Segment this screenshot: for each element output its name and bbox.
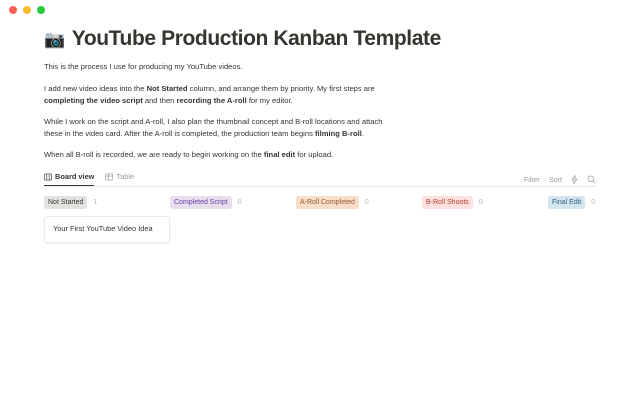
status-badge: Final Edit: [548, 196, 585, 209]
tab-table[interactable]: Table: [105, 169, 134, 186]
kanban-column-completed-script: Completed Script0: [170, 196, 296, 242]
page-title-text: YouTube Production Kanban Template: [72, 26, 441, 52]
paragraph-p4: When all B-roll is recorded, we are read…: [44, 149, 394, 161]
page-title: 📷 YouTube Production Kanban Template: [44, 26, 596, 52]
text-run: filming B-roll: [315, 129, 362, 138]
kanban-column-final-edit: Final Edit0: [548, 196, 640, 242]
column-cards: [296, 216, 422, 242]
window-titlebar: [0, 0, 640, 20]
card-title: Your First YouTube Video Idea: [53, 224, 153, 234]
column-header[interactable]: Completed Script0: [170, 196, 296, 209]
table-icon: [105, 173, 113, 181]
text-run: for my editor.: [247, 96, 293, 105]
column-count: 0: [238, 197, 242, 208]
column-header[interactable]: Final Edit0: [548, 196, 640, 209]
column-header[interactable]: A-Roll Completed0: [296, 196, 422, 209]
sort-button[interactable]: Sort: [549, 175, 562, 184]
window-close-button[interactable]: [9, 6, 17, 14]
paragraph-p2: I add new video ideas into the Not Start…: [44, 83, 394, 107]
text-run: When all B-roll is recorded, we are read…: [44, 150, 264, 159]
page-content: 📷 YouTube Production Kanban Template Thi…: [0, 20, 640, 243]
column-cards: [422, 216, 548, 242]
column-header[interactable]: B-Roll Shoots0: [422, 196, 548, 209]
kanban-column-a-roll-completed: A-Roll Completed0: [296, 196, 422, 242]
text-run: for upload.: [295, 150, 333, 159]
page-description: This is the process I use for producing …: [44, 61, 596, 161]
tab-label: Board view: [55, 169, 94, 185]
filter-button[interactable]: Filter: [524, 175, 540, 184]
column-cards: Your First YouTube Video Idea: [44, 216, 170, 243]
status-badge: Not Started: [44, 196, 87, 209]
kanban-board: Not Started1Your First YouTube Video Ide…: [44, 196, 596, 243]
column-count: 1: [93, 197, 97, 208]
window-maximize-button[interactable]: [37, 6, 45, 14]
column-cards: [170, 216, 296, 242]
text-run: .: [362, 129, 364, 138]
search-icon[interactable]: [587, 175, 596, 184]
column-count: 0: [591, 197, 595, 208]
view-bar: Board viewTable Filter Sort: [44, 170, 596, 187]
kanban-column-b-roll-shoots: B-Roll Shoots0: [422, 196, 548, 242]
text-run: recording the A-roll: [177, 96, 247, 105]
tab-label: Table: [116, 169, 134, 185]
column-header[interactable]: Not Started1: [44, 196, 170, 209]
view-tabs: Board viewTable: [44, 170, 134, 186]
text-run: completing the video script: [44, 96, 143, 105]
kanban-column-not-started: Not Started1Your First YouTube Video Ide…: [44, 196, 170, 243]
text-run: I add new video ideas into the: [44, 84, 147, 93]
text-run: This is the process I use for producing …: [44, 62, 243, 71]
text-run: and then: [143, 96, 177, 105]
view-tools: Filter Sort: [524, 175, 596, 186]
status-badge: A-Roll Completed: [296, 196, 359, 209]
window-minimize-button[interactable]: [23, 6, 31, 14]
kanban-card[interactable]: Your First YouTube Video Idea: [44, 216, 170, 243]
text-run: final edit: [264, 150, 295, 159]
paragraph-p1: This is the process I use for producing …: [44, 61, 394, 73]
text-run: column, and arrange them by priority. My…: [188, 84, 375, 93]
column-count: 0: [479, 197, 483, 208]
camera-icon: 📷: [44, 31, 65, 48]
text-run: Not Started: [147, 84, 188, 93]
board-icon: [44, 173, 52, 181]
paragraph-p3: While I work on the script and A-roll, I…: [44, 116, 394, 140]
column-count: 0: [365, 197, 369, 208]
status-badge: B-Roll Shoots: [422, 196, 473, 209]
tab-board-view[interactable]: Board view: [44, 169, 94, 186]
column-cards: [548, 216, 640, 242]
lightning-icon[interactable]: [571, 175, 578, 184]
status-badge: Completed Script: [170, 196, 232, 209]
